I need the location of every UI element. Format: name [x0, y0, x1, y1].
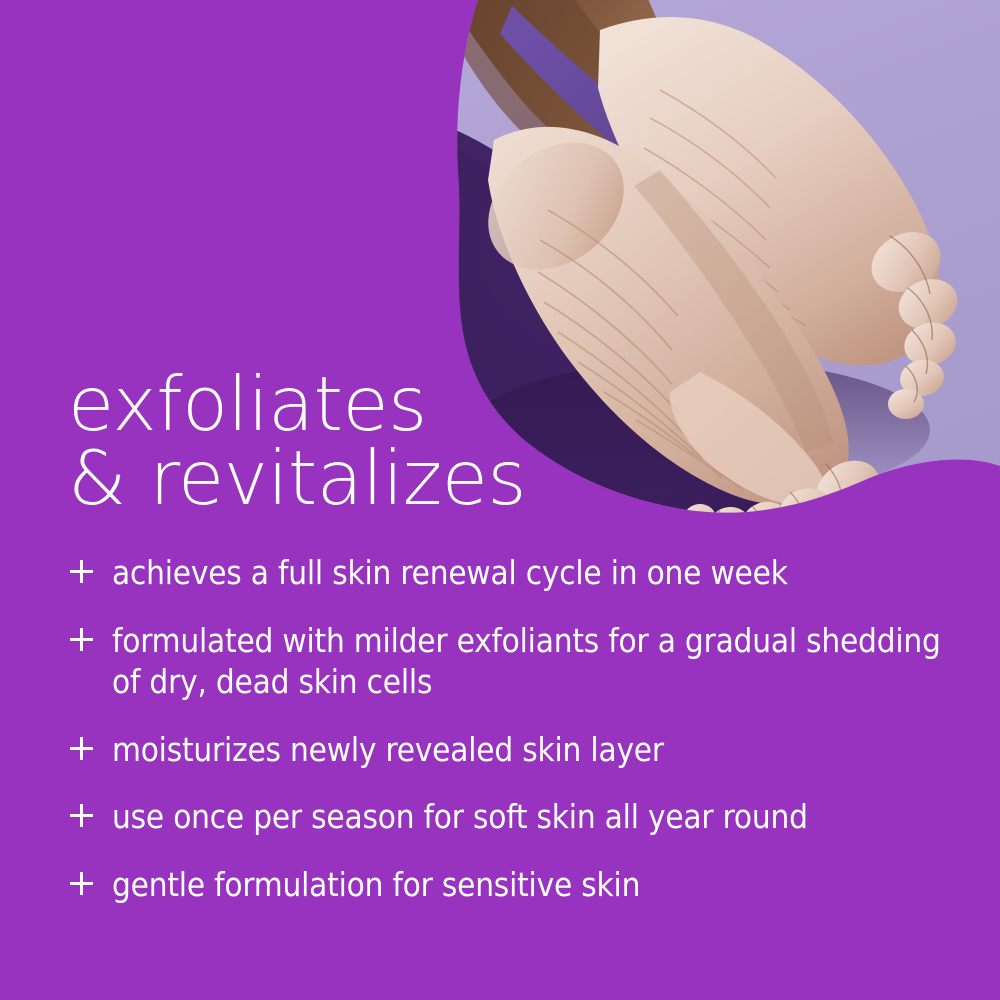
feature-text: use once per season for soft skin all ye…: [112, 796, 944, 838]
list-item: gentle formulation for sensitive skin: [64, 864, 944, 906]
list-item: use once per season for soft skin all ye…: [64, 796, 944, 838]
list-item: moisturizes newly revealed skin layer: [64, 729, 944, 771]
plus-icon: [70, 620, 96, 660]
plus-icon: [70, 864, 96, 904]
plus-icon: [70, 729, 96, 769]
plus-icon: [70, 796, 96, 836]
headline-line-1: exfoliates: [68, 368, 588, 442]
feature-list: achieves a full skin renewal cycle in on…: [64, 552, 944, 905]
page-title: exfoliates & revitalizes: [68, 368, 588, 515]
feature-text: achieves a full skin renewal cycle in on…: [112, 552, 944, 594]
list-item: achieves a full skin renewal cycle in on…: [64, 552, 944, 594]
product-feature-banner: exfoliates & revitalizes achieves a full…: [0, 0, 1000, 1000]
list-item: formulated with milder exfoliants for a …: [64, 620, 944, 703]
headline-line-2: & revitalizes: [68, 442, 588, 516]
feature-text: gentle formulation for sensitive skin: [112, 864, 944, 906]
feature-text: formulated with milder exfoliants for a …: [112, 620, 944, 703]
feature-text: moisturizes newly revealed skin layer: [112, 729, 944, 771]
plus-icon: [70, 552, 96, 592]
